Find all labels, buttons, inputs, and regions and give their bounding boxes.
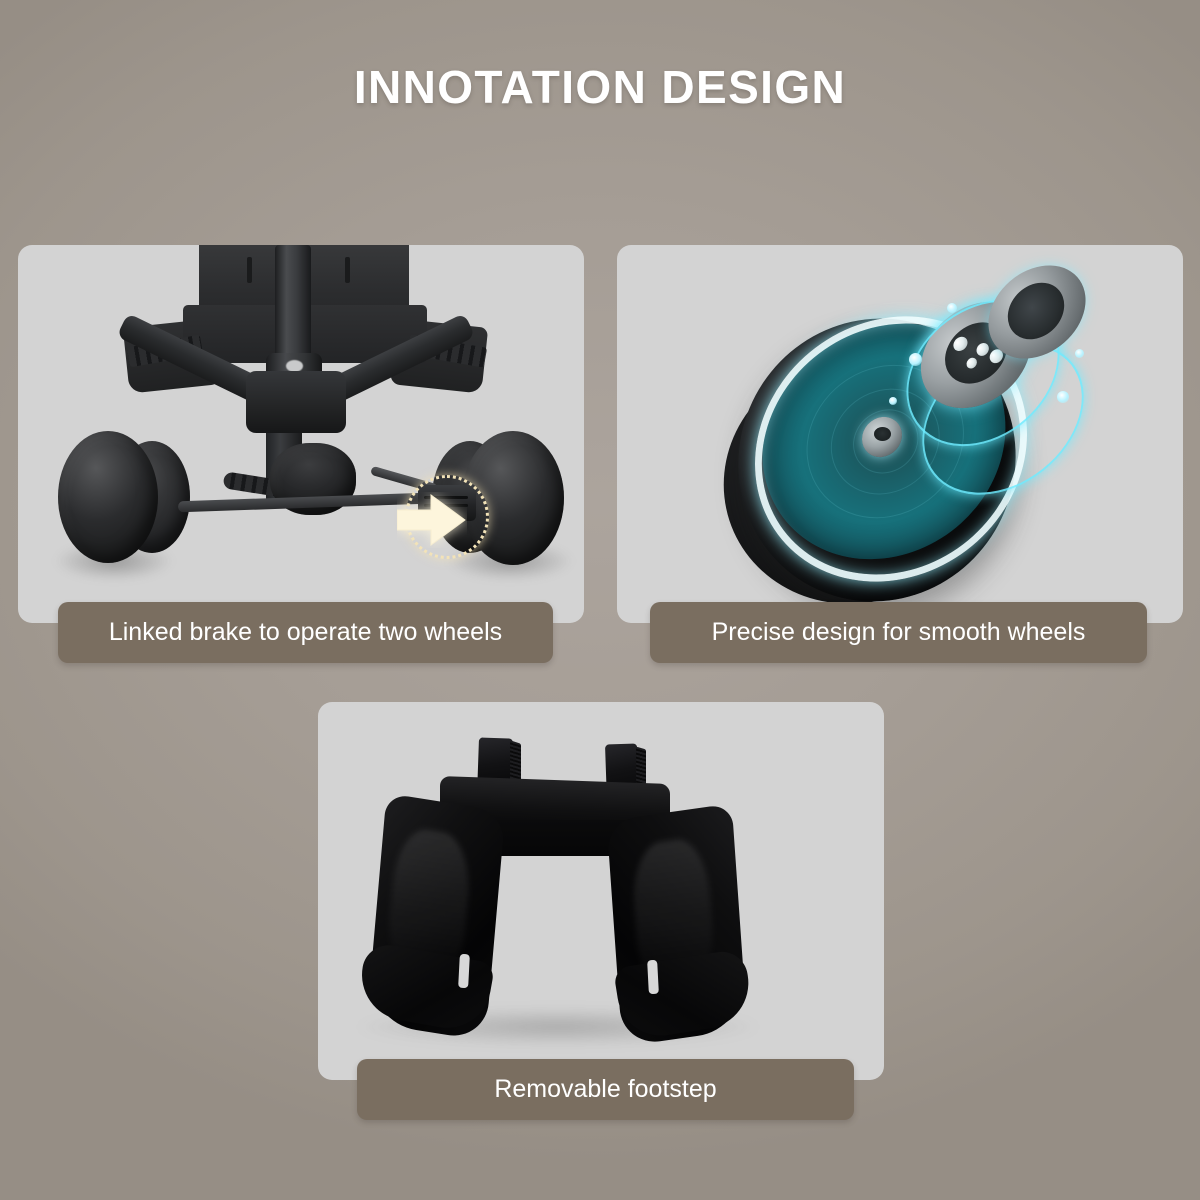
glow-spark	[947, 303, 957, 313]
wheel-hub-hole	[874, 427, 891, 441]
frame-hub-joint	[246, 371, 346, 433]
wheel-photo	[617, 245, 1183, 623]
caption-removable-footstep: Removable footstep	[357, 1059, 854, 1120]
glow-spark	[1057, 391, 1069, 403]
footstep-photo	[318, 702, 884, 1080]
footstep-slot-right	[647, 960, 659, 994]
seat-slot	[345, 257, 350, 283]
panel-linked-brake[interactable]	[18, 245, 584, 623]
frame-center-post	[275, 245, 311, 370]
page-title: INNOTATION DESIGN	[0, 60, 1200, 114]
glow-spark	[1075, 349, 1084, 358]
glow-spark	[909, 353, 922, 366]
caption-precise-wheel: Precise design for smooth wheels	[650, 602, 1147, 663]
footstep-slot-left	[458, 954, 470, 988]
wheel-left	[58, 431, 158, 563]
glow-spark	[889, 397, 897, 405]
infographic-page: INNOTATION DESIGN	[0, 0, 1200, 1200]
panel-removable-footstep[interactable]	[318, 702, 884, 1080]
panel-precise-wheel[interactable]	[617, 245, 1183, 623]
seat-slot	[247, 257, 252, 283]
brake-photo	[18, 245, 584, 623]
caption-linked-brake: Linked brake to operate two wheels	[58, 602, 553, 663]
pointer-arrow-icon	[397, 492, 467, 548]
